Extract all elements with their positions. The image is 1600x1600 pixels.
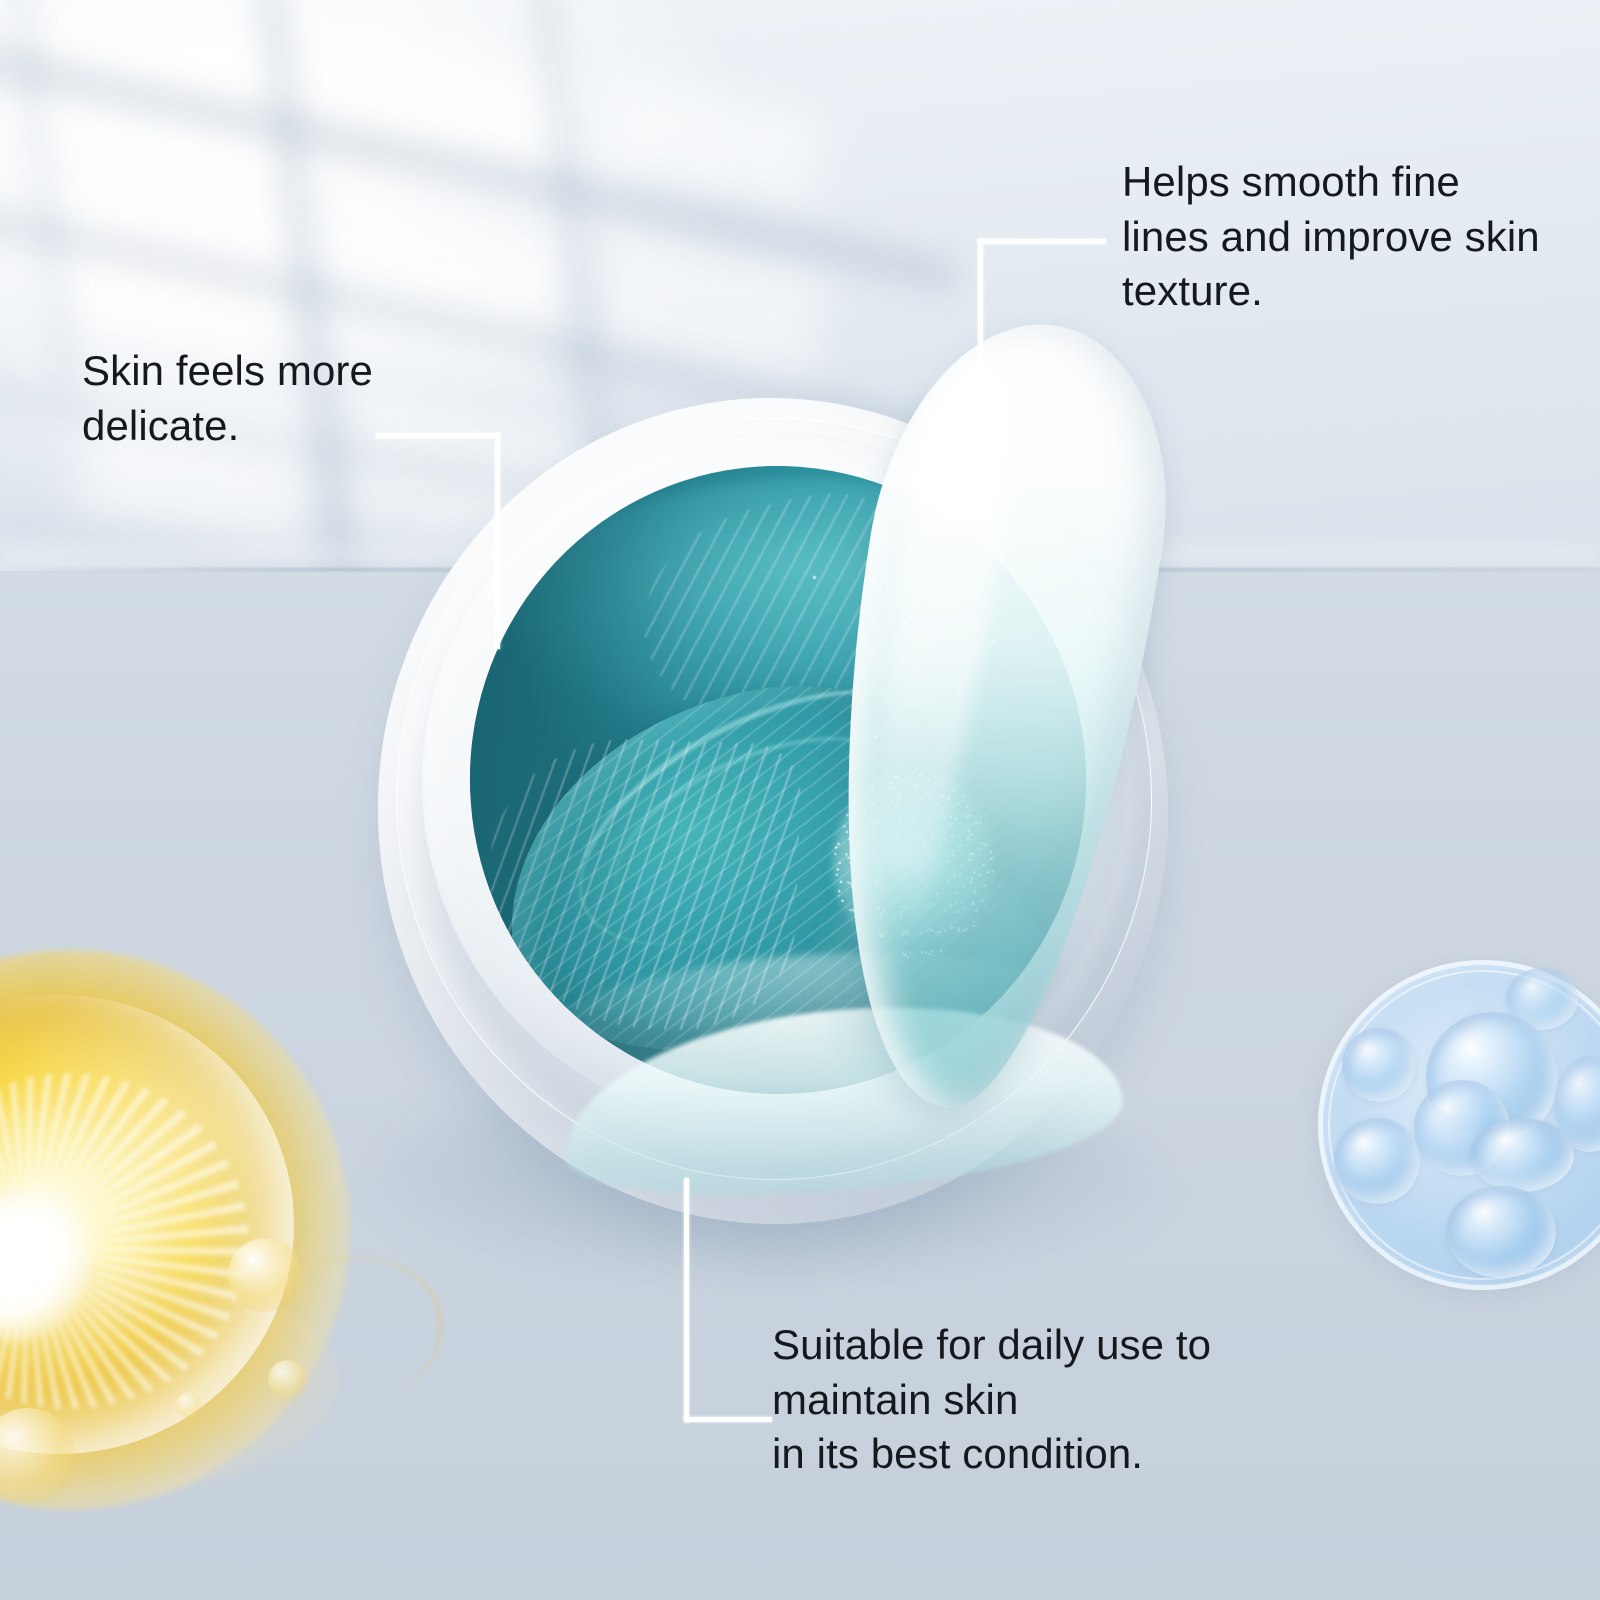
- callout-delicate-skin-leader-vertical: [495, 433, 500, 649]
- callout-delicate-skin-text: Skin feels more delicate.: [82, 344, 502, 453]
- callout-fine-lines-leader-vertical: [978, 239, 983, 515]
- water-bubble: [1446, 1186, 1556, 1278]
- orb-droplet: [268, 1360, 308, 1400]
- orb-droplet: [176, 1392, 202, 1418]
- callout-fine-lines-leader-horizontal: [978, 239, 1106, 244]
- orb-droplet: [228, 1238, 302, 1312]
- callout-daily-use-text: Suitable for daily use to maintain skin …: [772, 1318, 1332, 1482]
- callout-fine-lines-text: Helps smooth fine lines and improve skin…: [1122, 155, 1592, 319]
- water-bubble: [1334, 1118, 1420, 1204]
- product-infographic: Helps smooth fine lines and improve skin…: [0, 0, 1600, 1600]
- water-bubble: [1342, 1028, 1416, 1102]
- callout-daily-use-leader-vertical: [684, 1178, 689, 1422]
- callout-daily-use-leader-horizontal: [684, 1417, 772, 1422]
- blue-bubble-petri-dish: [1318, 960, 1600, 1290]
